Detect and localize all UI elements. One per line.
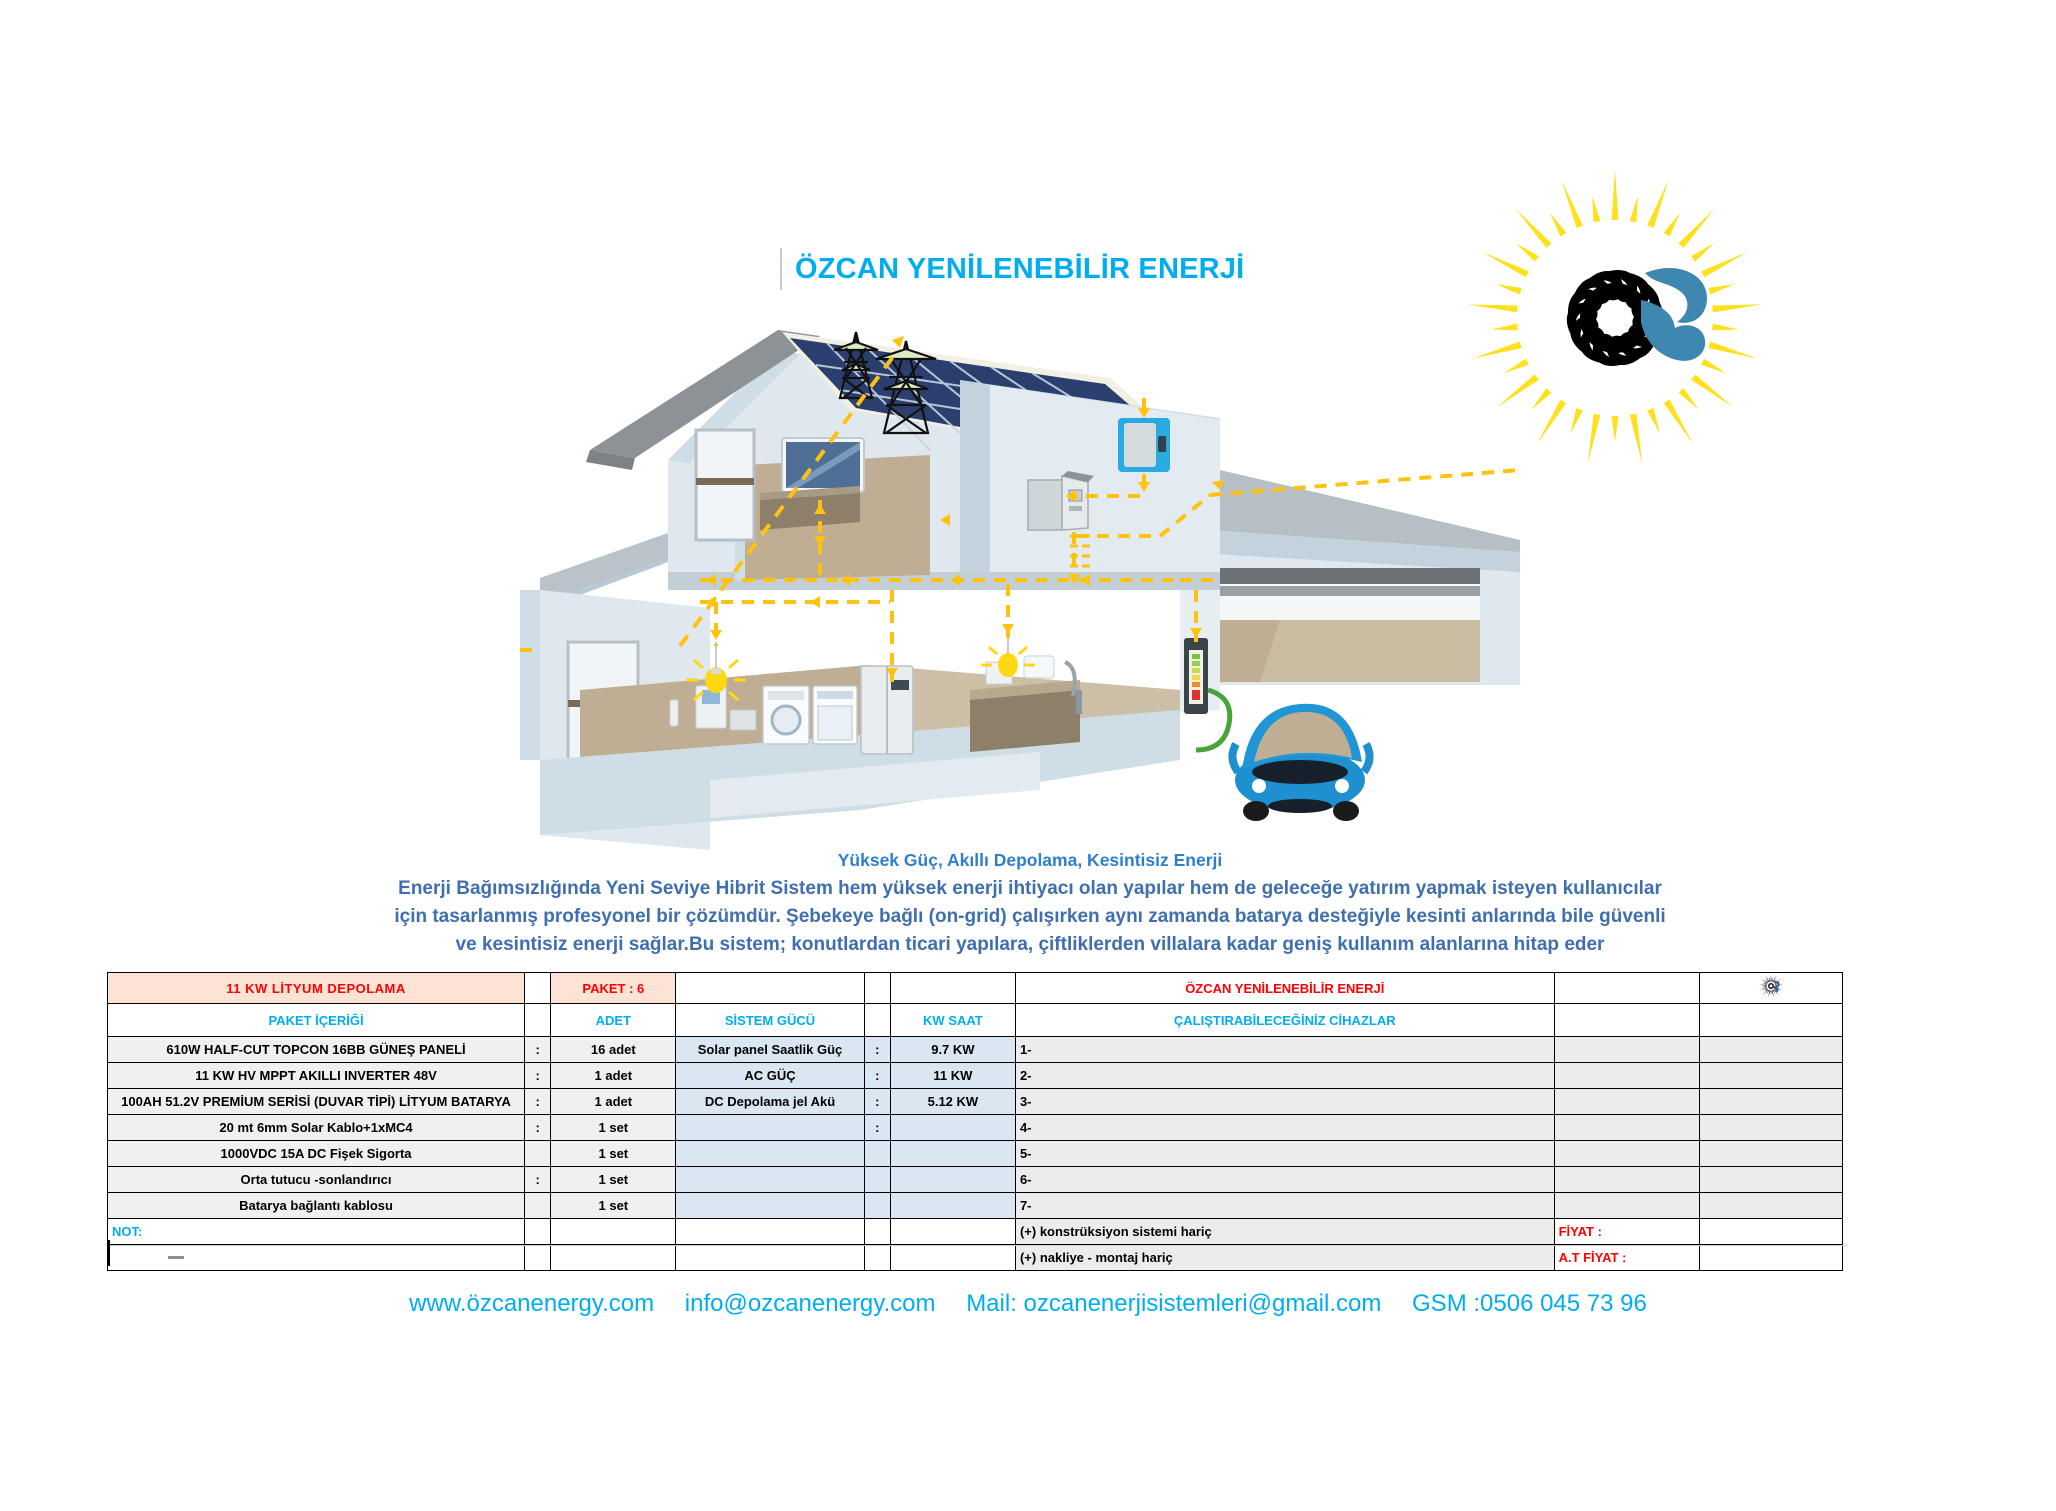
table-row: 20 mt 6mm Solar Kablo+1xMC4 : 1 set : 4- xyxy=(108,1115,1843,1141)
table-row: 610W HALF-CUT TOPCON 16BB GÜNEŞ PANELİ :… xyxy=(108,1037,1843,1063)
item-colon: : xyxy=(525,1115,551,1141)
price-value xyxy=(1699,1219,1842,1245)
device-slot: 4- xyxy=(1015,1115,1554,1141)
footer-contact-bar: www.özcanenergy.com info@ozcanenergy.com… xyxy=(0,1290,2056,1318)
empty-cell xyxy=(525,1004,551,1037)
power-colon: : xyxy=(864,1089,890,1115)
exclusion-text: (+) nakliye - montaj hariç xyxy=(1015,1245,1554,1271)
header-paket-icerigi: PAKET İÇERİĞİ xyxy=(108,1004,525,1037)
header-kw-saat: KW SAAT xyxy=(890,1004,1015,1037)
exclusion-text: (+) konstrüksiyon sistemi hariç xyxy=(1015,1219,1554,1245)
caption-line-2: için tasarlanmış profesyonel bir çözümdü… xyxy=(250,903,1810,931)
table-row: Batarya bağlantı kablosu 1 set 7- xyxy=(108,1193,1843,1219)
power-kw xyxy=(890,1167,1015,1193)
item-name: 20 mt 6mm Solar Kablo+1xMC4 xyxy=(108,1115,525,1141)
item-name: Batarya bağlantı kablosu xyxy=(108,1193,525,1219)
device-slot: 5- xyxy=(1015,1141,1554,1167)
empty-cell xyxy=(864,1219,890,1245)
table-row: 11 KW HV MPPT AKILLI INVERTER 48V : 1 ad… xyxy=(108,1063,1843,1089)
table-row-headers: PAKET İÇERİĞİ ADET SİSTEM GÜCÜ KW SAAT Ç… xyxy=(108,1004,1843,1037)
power-kw: 5.12 KW xyxy=(890,1089,1015,1115)
table-row-title: 11 KW LİTYUM DEPOLAMA PAKET : 6 ÖZCAN YE… xyxy=(108,973,1843,1004)
empty-cell xyxy=(864,1245,890,1271)
power-label: DC Depolama jel Akü xyxy=(676,1089,864,1115)
electric-car xyxy=(1232,704,1369,821)
power-label: AC GÜÇ xyxy=(676,1063,864,1089)
item-qty: 1 set xyxy=(551,1115,676,1141)
empty-cell xyxy=(676,973,864,1004)
empty-cell xyxy=(1554,1089,1699,1115)
empty-cell xyxy=(864,1004,890,1037)
empty-cell xyxy=(676,1219,864,1245)
spacer-cell xyxy=(525,973,551,1004)
power-label xyxy=(676,1141,864,1167)
power-colon xyxy=(864,1193,890,1219)
table-row: Orta tutucu -sonlandırıcı : 1 set 6- xyxy=(108,1167,1843,1193)
header-cihazlar: ÇALIŞTIRABİLECEĞİNİZ CİHAZLAR xyxy=(1015,1004,1554,1037)
item-name: 610W HALF-CUT TOPCON 16BB GÜNEŞ PANELİ xyxy=(108,1037,525,1063)
power-label xyxy=(676,1167,864,1193)
item-colon: : xyxy=(525,1167,551,1193)
device-slot: 7- xyxy=(1015,1193,1554,1219)
device-slot: 6- xyxy=(1015,1167,1554,1193)
table-row-note-2: (+) nakliye - montaj hariç A.T FİYAT : xyxy=(108,1245,1843,1271)
price-value xyxy=(1699,1245,1842,1271)
item-qty: 1 adet xyxy=(551,1089,676,1115)
package-number: PAKET : 6 xyxy=(551,973,676,1004)
item-colon xyxy=(525,1141,551,1167)
empty-cell xyxy=(1699,1141,1842,1167)
item-colon: : xyxy=(525,1037,551,1063)
table-row-note: NOT: (+) konstrüksiyon sistemi hariç FİY… xyxy=(108,1219,1843,1245)
item-qty: 1 set xyxy=(551,1167,676,1193)
empty-cell xyxy=(1554,1167,1699,1193)
power-kw: 9.7 KW xyxy=(890,1037,1015,1063)
empty-cell xyxy=(1554,1115,1699,1141)
empty-cell xyxy=(1699,1037,1842,1063)
item-name: Orta tutucu -sonlandırıcı xyxy=(108,1167,525,1193)
item-name: 100AH 51.2V PREMİUM SERİSİ (DUVAR TİPİ) … xyxy=(108,1089,525,1115)
power-colon: : xyxy=(864,1063,890,1089)
empty-cell xyxy=(1699,1089,1842,1115)
table-row: 100AH 51.2V PREMİUM SERİSİ (DUVAR TİPİ) … xyxy=(108,1089,1843,1115)
empty-cell xyxy=(676,1245,864,1271)
power-kw: 11 KW xyxy=(890,1063,1015,1089)
empty-cell xyxy=(1554,1141,1699,1167)
empty-cell xyxy=(551,1219,676,1245)
note-label: NOT: xyxy=(108,1219,525,1245)
page-title: ÖZCAN YENİLENEBİLİR ENERJİ xyxy=(795,253,1244,286)
item-qty: 1 set xyxy=(551,1193,676,1219)
footer-gsm[interactable]: GSM :0506 045 73 96 xyxy=(1412,1290,1647,1317)
stray-cursor-mark xyxy=(107,1240,110,1266)
table-row: 1000VDC 15A DC Fişek Sigorta 1 set 5- xyxy=(108,1141,1843,1167)
device-slot: 1- xyxy=(1015,1037,1554,1063)
sun-logo-small-icon xyxy=(1756,974,1786,1000)
solar-hybrid-house-diagram xyxy=(520,290,1520,850)
package-title: 11 KW LİTYUM DEPOLAMA xyxy=(108,973,525,1004)
power-label: Solar panel Saatlik Güç xyxy=(676,1037,864,1063)
empty-cell xyxy=(1699,1115,1842,1141)
footer-mail[interactable]: Mail: ozcanenerjisistemleri@gmail.com xyxy=(966,1290,1381,1317)
empty-cell xyxy=(1554,1193,1699,1219)
power-colon xyxy=(864,1141,890,1167)
sheet-gridline xyxy=(107,1245,1847,1246)
device-slot: 3- xyxy=(1015,1089,1554,1115)
empty-cell xyxy=(1554,1004,1699,1037)
item-name: 1000VDC 15A DC Fişek Sigorta xyxy=(108,1141,525,1167)
empty-cell xyxy=(890,973,1015,1004)
header-adet: ADET xyxy=(551,1004,676,1037)
power-kw xyxy=(890,1193,1015,1219)
power-colon: : xyxy=(864,1037,890,1063)
header-sistem-gucu: SİSTEM GÜCÜ xyxy=(676,1004,864,1037)
power-label xyxy=(676,1193,864,1219)
table-sun-logo-cell xyxy=(1699,973,1842,1004)
power-kw xyxy=(890,1141,1015,1167)
item-colon xyxy=(525,1193,551,1219)
footer-website[interactable]: www.özcanenergy.com xyxy=(409,1290,654,1317)
empty-cell xyxy=(1699,1193,1842,1219)
device-slot: 2- xyxy=(1015,1063,1554,1089)
caption-block: Yüksek Güç, Akıllı Depolama, Kesintisiz … xyxy=(250,850,1810,959)
power-label xyxy=(676,1115,864,1141)
wall-inverter xyxy=(1118,418,1170,472)
footer-email[interactable]: info@ozcanenergy.com xyxy=(685,1290,936,1317)
company-name: ÖZCAN YENİLENEBİLİR ENERJİ xyxy=(1015,973,1554,1004)
power-colon xyxy=(864,1167,890,1193)
price-label: FİYAT : xyxy=(1554,1219,1699,1245)
empty-cell xyxy=(1699,1004,1842,1037)
electrical-cabinet xyxy=(1028,471,1094,530)
item-name: 11 KW HV MPPT AKILLI INVERTER 48V xyxy=(108,1063,525,1089)
price-label: A.T FİYAT : xyxy=(1554,1245,1699,1271)
empty-cell xyxy=(1554,1037,1699,1063)
empty-cell xyxy=(1554,1063,1699,1089)
empty-cell xyxy=(864,973,890,1004)
item-colon: : xyxy=(525,1089,551,1115)
empty-cell xyxy=(551,1245,676,1271)
power-kw xyxy=(890,1115,1015,1141)
title-divider-rule xyxy=(780,248,782,290)
empty-cell xyxy=(1699,1167,1842,1193)
caption-headline: Yüksek Güç, Akıllı Depolama, Kesintisiz … xyxy=(250,850,1810,871)
house-diagram-svg xyxy=(520,290,1520,850)
item-qty: 1 set xyxy=(551,1141,676,1167)
item-colon: : xyxy=(525,1063,551,1089)
empty-cell xyxy=(890,1245,1015,1271)
power-colon: : xyxy=(864,1115,890,1141)
empty-cell xyxy=(1554,973,1699,1004)
caption-line-1: Enerji Bağımsızlığında Yeni Seviye Hibri… xyxy=(250,875,1810,903)
empty-cell xyxy=(1699,1063,1842,1089)
item-qty: 16 adet xyxy=(551,1037,676,1063)
empty-cell xyxy=(525,1219,551,1245)
package-spec-table: 11 KW LİTYUM DEPOLAMA PAKET : 6 ÖZCAN YE… xyxy=(107,972,1843,1271)
item-qty: 1 adet xyxy=(551,1063,676,1089)
empty-cell xyxy=(525,1245,551,1271)
caption-line-3: ve kesintisiz enerji sağlar.Bu sistem; k… xyxy=(250,931,1810,959)
empty-cell xyxy=(890,1219,1015,1245)
stray-dash-mark xyxy=(168,1256,184,1259)
